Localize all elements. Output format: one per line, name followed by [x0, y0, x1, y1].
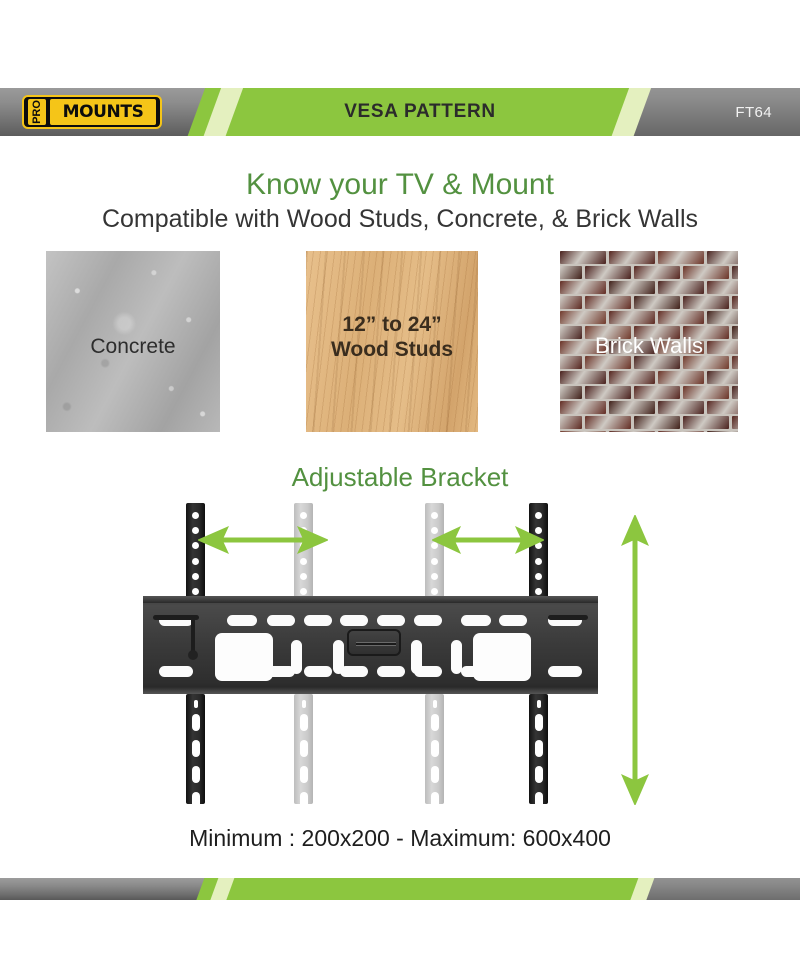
brick	[707, 371, 738, 384]
plate-slot	[340, 615, 368, 626]
plate-vertical-slot	[333, 640, 344, 674]
promounts-logo: PRO MOUNTS	[22, 95, 162, 129]
rail-right-black-lower	[529, 694, 548, 804]
tilt-lock-rod-right	[548, 615, 588, 620]
plate-slot	[304, 615, 332, 626]
brick-row	[560, 311, 738, 326]
bracket-heading: Adjustable Bracket	[0, 462, 800, 493]
tilt-lock-knob	[188, 650, 198, 660]
concrete-label: Concrete	[46, 335, 220, 360]
brick-row	[560, 371, 738, 386]
plate-slot	[304, 666, 332, 677]
plate-slot	[267, 615, 295, 626]
page-subtitle: Compatible with Wood Studs, Concrete, & …	[0, 205, 800, 234]
brick	[634, 296, 680, 309]
brick	[560, 296, 582, 309]
brick	[585, 296, 631, 309]
brick	[609, 251, 655, 264]
brick	[658, 401, 704, 414]
plate-bottom-edge	[143, 687, 598, 694]
rail-inner-left-lower-holes	[294, 700, 313, 818]
plate-slot	[377, 615, 405, 626]
brick	[609, 281, 655, 294]
plate-cutout-right	[473, 633, 531, 681]
brick-row	[560, 401, 738, 416]
brick	[707, 251, 738, 264]
plate-top-edge	[143, 596, 598, 603]
brick-label: Brick Walls	[560, 333, 738, 359]
brick	[658, 251, 704, 264]
material-swatch-brick: Brick Walls	[560, 251, 738, 432]
center-badge	[347, 629, 401, 656]
plate-slot	[499, 615, 527, 626]
brick	[658, 371, 704, 384]
plate-slot	[414, 615, 442, 626]
badge-bar	[356, 642, 396, 646]
brick	[609, 431, 655, 432]
brick	[707, 311, 738, 324]
brick	[732, 386, 738, 399]
brick	[560, 251, 606, 264]
brick	[609, 401, 655, 414]
brick-row	[560, 416, 738, 431]
brick-row	[560, 281, 738, 296]
plate-slot	[159, 666, 193, 677]
plate-vertical-slot	[411, 640, 422, 674]
plate-vertical-slot	[291, 640, 302, 674]
plate-cutout-left	[215, 633, 273, 681]
brick	[560, 266, 582, 279]
brick	[683, 266, 729, 279]
plate-slot	[548, 666, 582, 677]
brick	[585, 386, 631, 399]
brick	[560, 311, 606, 324]
brick-row	[560, 296, 738, 311]
brick	[609, 371, 655, 384]
plate-slot	[227, 615, 257, 626]
width-arrow-left	[198, 523, 328, 557]
rail-inner-right-gray-lower	[425, 694, 444, 804]
material-swatch-concrete: Concrete	[46, 251, 220, 432]
tilt-lock-drop	[191, 617, 195, 653]
brick-row	[560, 266, 738, 281]
header-model-number: FT64	[735, 88, 772, 136]
rail-right-lower-holes	[529, 700, 548, 818]
brick	[585, 266, 631, 279]
page-title: Know your TV & Mount	[0, 168, 800, 202]
brick-row	[560, 431, 738, 432]
plate-slot	[340, 666, 368, 677]
infographic-page: VESA PATTERN FT64 PRO MOUNTS Know your T…	[0, 0, 800, 977]
brick	[560, 386, 582, 399]
logo-mounts-text: MOUNTS	[63, 102, 144, 122]
plate-vertical-slot	[451, 640, 462, 674]
logo-mounts-block: MOUNTS	[50, 99, 156, 125]
brick	[585, 416, 631, 429]
brick-row	[560, 386, 738, 401]
footer-bar	[0, 878, 800, 900]
brick	[634, 386, 680, 399]
header-title: VESA PATTERN	[240, 88, 600, 136]
footer-green-band	[193, 878, 648, 900]
logo-pro-text: PRO	[31, 100, 43, 124]
plate-slot	[461, 615, 491, 626]
brick	[609, 311, 655, 324]
brick	[634, 266, 680, 279]
material-swatch-wood: 12” to 24” Wood Studs	[306, 251, 478, 432]
rail-left-black-lower	[186, 694, 205, 804]
width-arrow-right	[432, 523, 544, 557]
brick	[732, 416, 738, 429]
brick	[560, 431, 606, 432]
rail-inner-right-lower-holes	[425, 700, 444, 818]
brick	[683, 296, 729, 309]
logo-pro-block: PRO	[28, 99, 46, 125]
brick	[732, 296, 738, 309]
brick	[732, 266, 738, 279]
height-arrow	[618, 515, 652, 805]
brick	[683, 416, 729, 429]
brick	[707, 431, 738, 432]
brick	[658, 431, 704, 432]
bracket-diagram	[0, 495, 800, 820]
brick	[683, 386, 729, 399]
brick	[560, 281, 606, 294]
vesa-range-caption: Minimum : 200x200 - Maximum: 600x400	[0, 825, 800, 852]
wood-label-line1: 12” to 24”	[306, 313, 478, 338]
wall-plate	[143, 596, 598, 694]
brick	[560, 371, 606, 384]
brick	[707, 281, 738, 294]
rail-inner-left-gray-lower	[294, 694, 313, 804]
brick	[560, 401, 606, 414]
plate-slot	[377, 666, 405, 677]
brick	[658, 311, 704, 324]
rail-left-lower-holes	[186, 700, 205, 818]
brick	[658, 281, 704, 294]
wood-label-line2: Wood Studs	[306, 338, 478, 363]
brick	[707, 401, 738, 414]
footer-gray-right-cap	[641, 878, 800, 900]
wood-label: 12” to 24” Wood Studs	[306, 313, 478, 363]
brick	[634, 416, 680, 429]
brick-row	[560, 251, 738, 266]
brick	[560, 416, 582, 429]
